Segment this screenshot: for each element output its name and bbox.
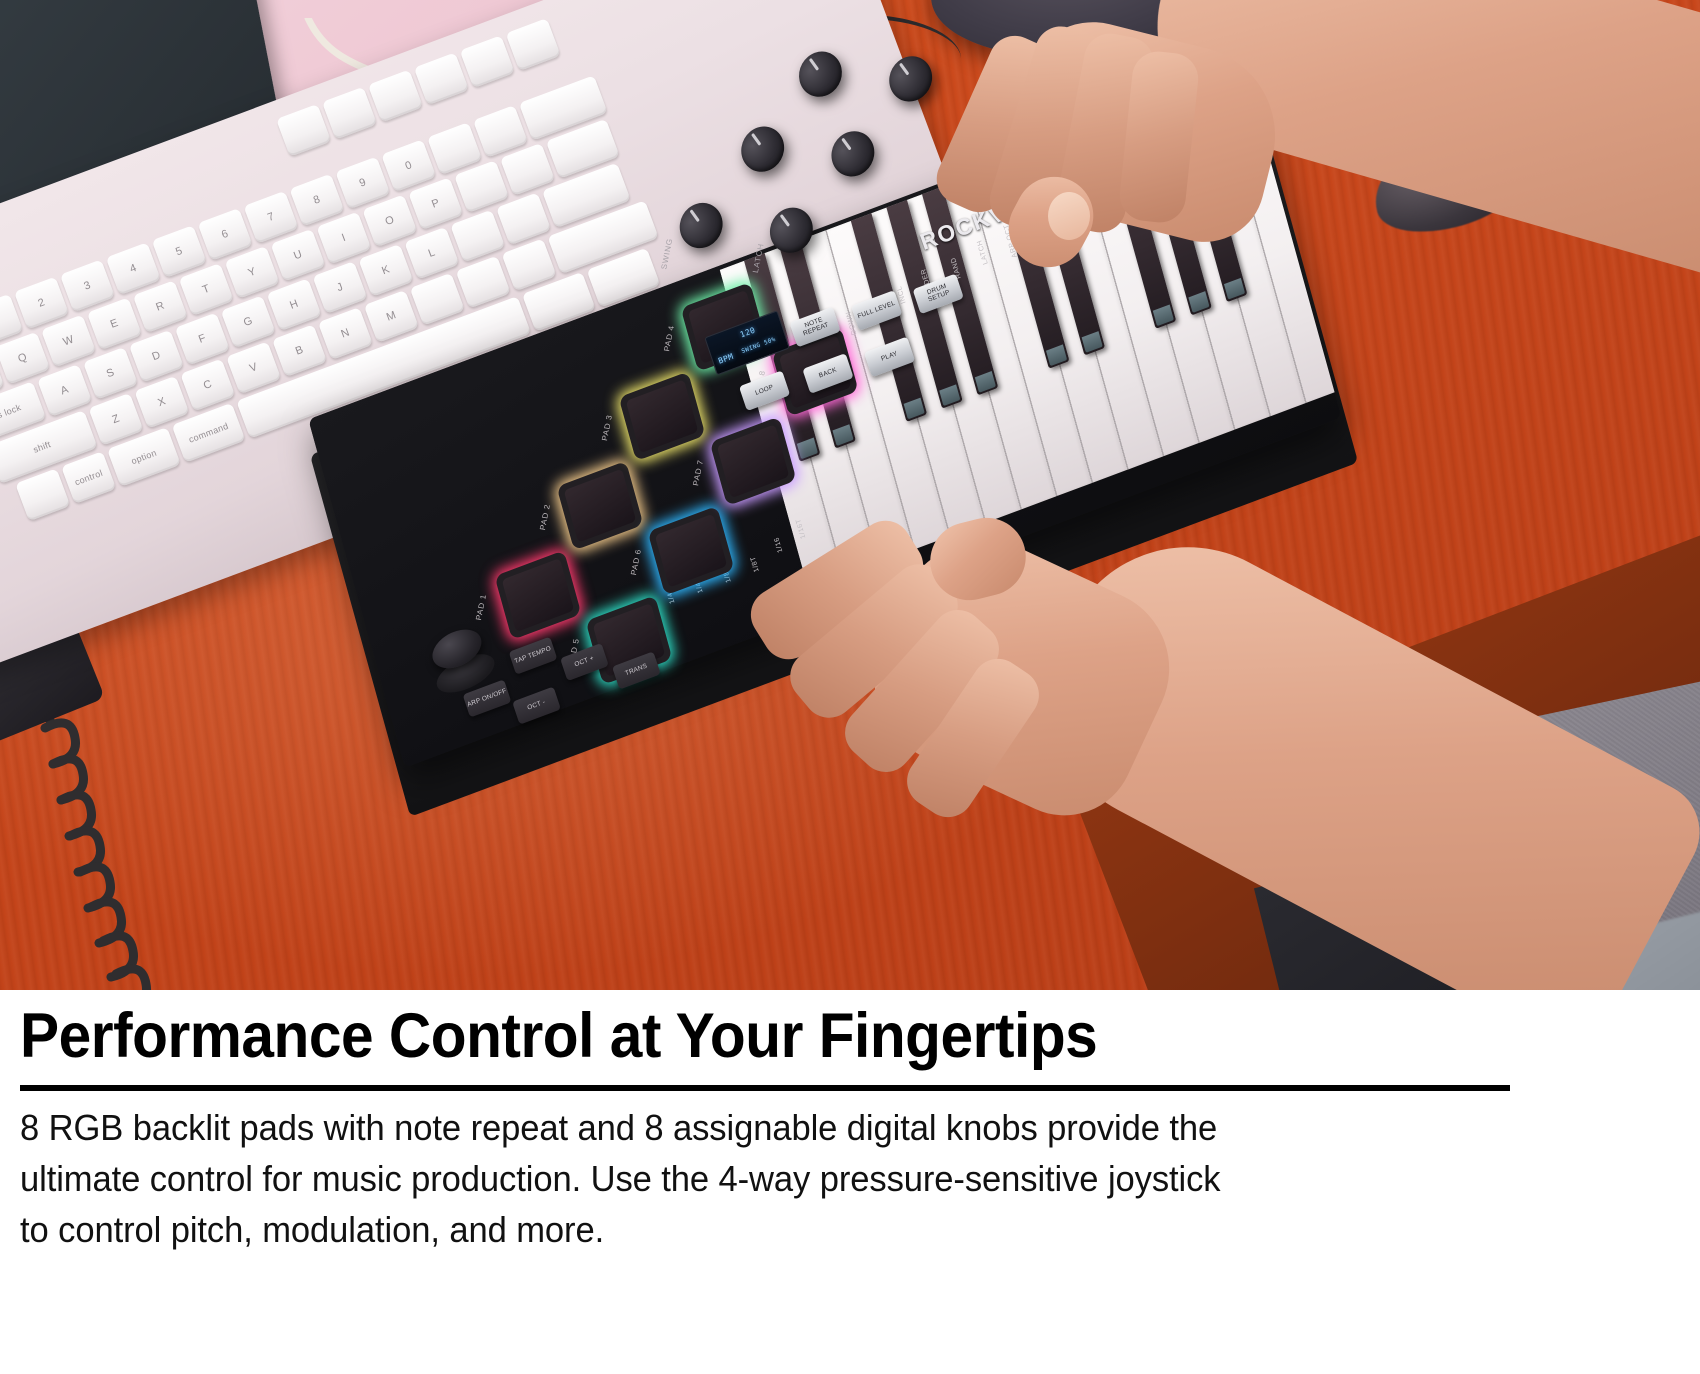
caption-line-1: 8 RGB backlit pads with note repeat and … xyxy=(20,1102,1460,1153)
right-fingertip-nail xyxy=(1048,192,1090,240)
product-feature-image: 1 2 3 4 5 6 7 8 9 0 tab Q W E R T xyxy=(0,0,1700,1374)
product-photo: 1 2 3 4 5 6 7 8 9 0 tab Q W E R T xyxy=(0,0,1700,990)
caption-line-2: ultimate control for music production. U… xyxy=(20,1153,1460,1204)
display-swing: SWING 50% xyxy=(741,336,777,355)
caption-panel: Performance Control at Your Fingertips 8… xyxy=(0,990,1700,1374)
display-bpm-label: BPM xyxy=(717,352,735,366)
display-tempo: 120 xyxy=(739,326,757,340)
page-title: Performance Control at Your Fingertips xyxy=(20,1000,1097,1072)
caption-line-3: to control pitch, modulation, and more. xyxy=(20,1204,1460,1255)
caption-body: 8 RGB backlit pads with note repeat and … xyxy=(20,1102,1520,1255)
divider-rule xyxy=(20,1085,1510,1091)
